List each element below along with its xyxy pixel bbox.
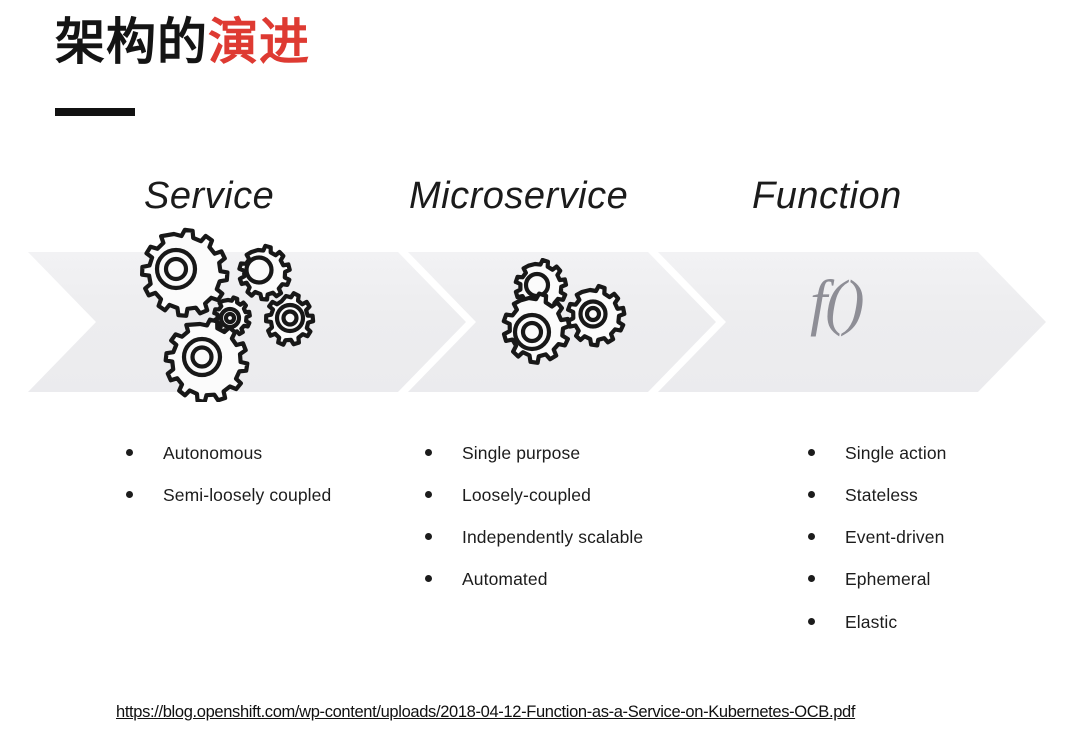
- bullet-dot-icon: [808, 491, 815, 498]
- list-item: Event-driven: [808, 524, 1058, 551]
- list-item: Single purpose: [425, 440, 725, 467]
- function-symbol-icon: f(): [810, 272, 863, 334]
- bullet-label: Elastic: [845, 609, 897, 636]
- bullet-dot-icon: [808, 449, 815, 456]
- source-url-link[interactable]: https://blog.openshift.com/wp-content/up…: [116, 703, 855, 722]
- bullet-dot-icon: [808, 575, 815, 582]
- bullet-dot-icon: [425, 575, 432, 582]
- bullet-label: Single purpose: [462, 440, 580, 467]
- list-item: Elastic: [808, 609, 1058, 636]
- bullet-dot-icon: [808, 618, 815, 625]
- list-item: Semi-loosely coupled: [126, 482, 386, 509]
- bullet-dot-icon: [126, 449, 133, 456]
- list-item: Single action: [808, 440, 1058, 467]
- bullet-dot-icon: [425, 449, 432, 456]
- list-item: Stateless: [808, 482, 1058, 509]
- bullet-label: Event-driven: [845, 524, 944, 551]
- bullet-column-service: Autonomous Semi-loosely coupled: [126, 440, 386, 524]
- bullet-dot-icon: [425, 491, 432, 498]
- bullet-label: Automated: [462, 566, 548, 593]
- title-underline-rule: [55, 108, 135, 116]
- page-title-accent: 演进: [208, 14, 310, 70]
- list-item: Loosely-coupled: [425, 482, 725, 509]
- bullet-column-microservice: Single purpose Loosely-coupled Independe…: [425, 440, 725, 609]
- list-item: Automated: [425, 566, 725, 593]
- stage-heading-service: Service: [144, 175, 274, 218]
- list-item: Autonomous: [126, 440, 386, 467]
- bullet-label: Independently scalable: [462, 524, 643, 551]
- list-item: Ephemeral: [808, 566, 1058, 593]
- bullet-dot-icon: [425, 533, 432, 540]
- page-title: 架构的演进: [55, 14, 655, 70]
- stage-heading-function: Function: [752, 175, 902, 218]
- gears-triple-icon: [495, 258, 635, 383]
- bullet-label: Single action: [845, 440, 947, 467]
- bullet-label: Loosely-coupled: [462, 482, 591, 509]
- bullet-label: Stateless: [845, 482, 918, 509]
- bullet-column-function: Single action Stateless Event-driven Eph…: [808, 440, 1058, 651]
- list-item: Independently scalable: [425, 524, 725, 551]
- bullet-label: Ephemeral: [845, 566, 931, 593]
- bullet-dot-icon: [126, 491, 133, 498]
- title-block: 架构的演进: [55, 14, 655, 70]
- bullet-label: Semi-loosely coupled: [163, 482, 331, 509]
- bullet-dot-icon: [808, 533, 815, 540]
- gears-cluster-icon: [118, 222, 328, 407]
- page-title-main: 架构的: [55, 14, 208, 70]
- bullet-label: Autonomous: [163, 440, 262, 467]
- stage-heading-microservice: Microservice: [409, 175, 628, 218]
